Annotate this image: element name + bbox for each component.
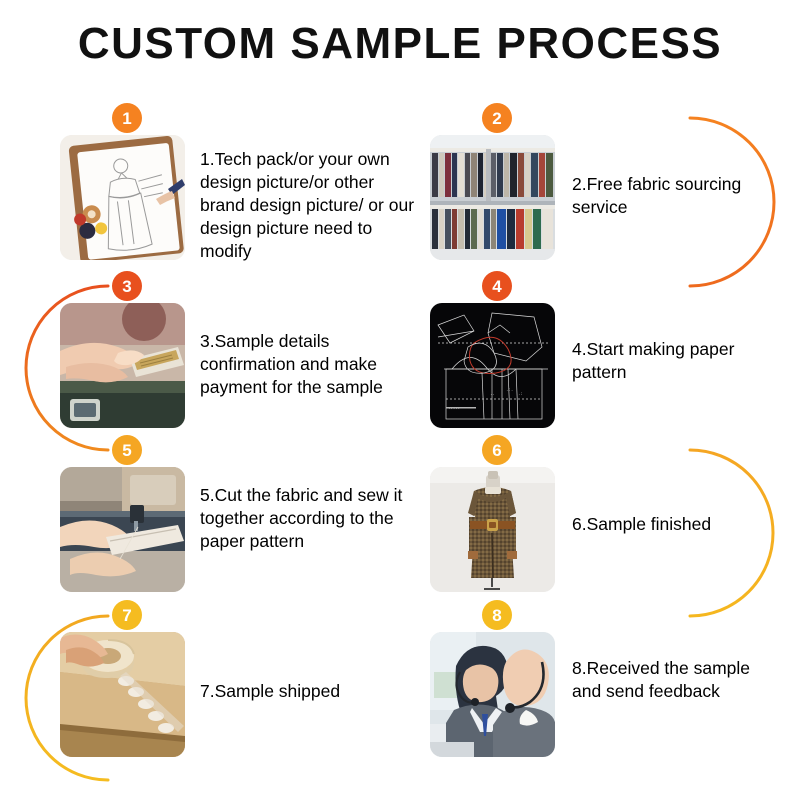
step-text-1: 1.Tech pack/or your own design picture/o… — [200, 148, 418, 263]
step-badge-5: 5 — [112, 435, 142, 465]
step-text-4: 4.Start making paper pattern — [572, 338, 777, 384]
step-badge-1: 1 — [112, 103, 142, 133]
step-text-8: 8.Received the sample and send feedback — [572, 657, 777, 703]
cad-paper-pattern-photo: ..... .. .:. .: — [430, 303, 555, 428]
step-number-8: 8 — [492, 607, 501, 624]
step-badge-3: 3 — [112, 271, 142, 301]
step-text-7: 7.Sample shipped — [200, 680, 418, 703]
step-number-2: 2 — [492, 110, 501, 127]
step-badge-2: 2 — [482, 103, 512, 133]
step-number-6: 6 — [492, 442, 501, 459]
fabric-swatch-racks-photo — [430, 135, 555, 260]
step-text-2: 2.Free fabric sourcing service — [572, 173, 772, 219]
fashion-sketch-clipboard-photo — [60, 135, 185, 260]
infographic-canvas: CUSTOM SAMPLE PROCESS — [0, 0, 800, 800]
step-number-4: 4 — [492, 278, 501, 295]
tweed-dress-mannequin-photo — [430, 467, 555, 592]
svg-text:.:: .: — [518, 391, 523, 396]
step-number-3: 3 — [122, 278, 131, 295]
step-number-5: 5 — [122, 442, 131, 459]
carton-packing-tape-photo — [60, 632, 185, 757]
step-number-7: 7 — [122, 607, 131, 624]
step-badge-7: 7 — [112, 600, 142, 630]
step-number-1: 1 — [122, 110, 131, 127]
payment-card-hands-photo — [60, 303, 185, 428]
svg-text:..: .. — [490, 391, 495, 396]
step-badge-8: 8 — [482, 600, 512, 630]
sewing-machine-photo — [60, 467, 185, 592]
step-badge-4: 4 — [482, 271, 512, 301]
customer-service-headset-photo — [430, 632, 555, 757]
step-text-5: 5.Cut the fabric and sew it together acc… — [200, 484, 418, 553]
step-text-3: 3.Sample details confirmation and make p… — [200, 330, 418, 399]
step-badge-6: 6 — [482, 435, 512, 465]
step-text-6: 6.Sample finished — [572, 513, 777, 536]
svg-text:.:.: .:. — [506, 387, 513, 392]
